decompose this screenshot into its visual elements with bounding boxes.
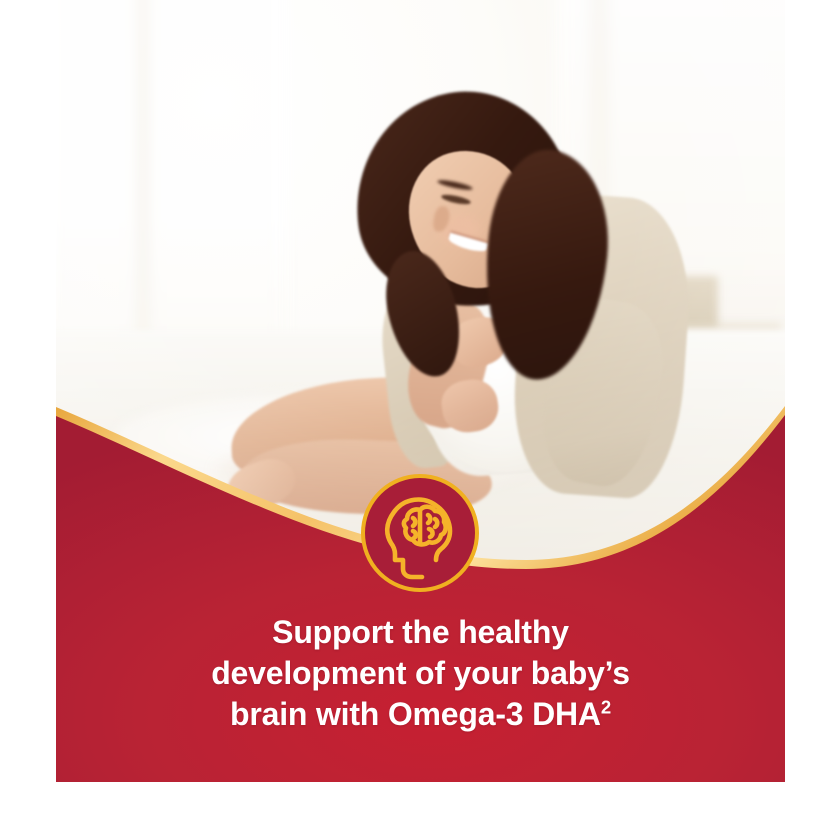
headline-line-3: brain with Omega-3 DHA2 bbox=[56, 694, 785, 735]
headline-line-2-bold: baby’s bbox=[531, 655, 630, 691]
headline: Support the healthy development of your … bbox=[56, 612, 785, 735]
brain-badge bbox=[360, 473, 480, 593]
headline-line-3-text: brain with Omega-3 DHA bbox=[230, 696, 601, 732]
headline-line-2: development of your baby’s bbox=[56, 653, 785, 694]
promo-banner-card: Support the healthy development of your … bbox=[0, 0, 840, 840]
footnote-marker: 2 bbox=[601, 696, 611, 717]
headline-line-2-regular: development of your bbox=[211, 655, 531, 691]
headline-line-1: Support the healthy bbox=[56, 612, 785, 653]
